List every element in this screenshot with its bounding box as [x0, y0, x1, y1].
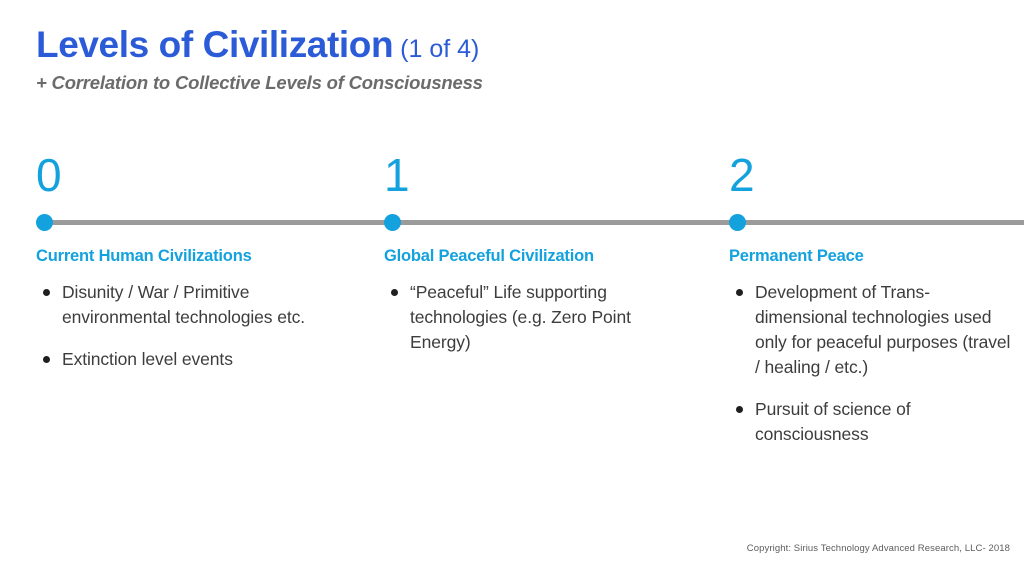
title-block: Levels of Civilization(1 of 4) + Correla…: [36, 26, 976, 94]
list-item-text: Pursuit of science of consciousness: [755, 399, 910, 444]
list-item-text: Disunity / War / Primitive environmental…: [62, 282, 305, 327]
list-item-text: Development of Trans-dimensional technol…: [755, 282, 1010, 377]
bullet-dot-icon: [43, 289, 50, 296]
timeline-stage-1: 1 Global Peaceful Civilization “Peaceful…: [384, 152, 704, 210]
stage-heading-2: Permanent Peace: [729, 247, 864, 266]
stage-number-0: 0: [36, 152, 356, 210]
list-item: “Peaceful” Life supporting technologies …: [384, 280, 669, 355]
page-title: Levels of Civilization(1 of 4): [36, 26, 976, 63]
timeline-stage-0: 0 Current Human Civilizations Disunity /…: [36, 152, 356, 210]
list-item: Development of Trans-dimensional technol…: [729, 280, 1019, 380]
stage-heading-1: Global Peaceful Civilization: [384, 247, 594, 266]
stage-heading-0: Current Human Civilizations: [36, 247, 252, 266]
stage-number-2: 2: [729, 152, 1024, 210]
stage-bullet-list-2: Development of Trans-dimensional technol…: [729, 280, 1019, 447]
slide-canvas: Levels of Civilization(1 of 4) + Correla…: [0, 0, 1024, 566]
bullet-dot-icon: [736, 289, 743, 296]
stage-bullet-list-0: Disunity / War / Primitive environmental…: [36, 280, 321, 372]
bullet-dot-icon: [43, 356, 50, 363]
timeline-stage-2: 2 Permanent Peace Development of Trans-d…: [729, 152, 1024, 210]
stage-number-1: 1: [384, 152, 704, 210]
list-item: Disunity / War / Primitive environmental…: [36, 280, 321, 330]
list-item: Pursuit of science of consciousness: [729, 397, 1019, 447]
timeline-axis: [45, 220, 1024, 225]
page-title-suffix: (1 of 4): [400, 35, 479, 63]
page-title-main: Levels of Civilization: [36, 24, 393, 65]
list-item-text: “Peaceful” Life supporting technologies …: [410, 282, 631, 352]
timeline-marker-dot-0: [36, 214, 53, 231]
bullet-dot-icon: [391, 289, 398, 296]
page-subtitle: + Correlation to Collective Levels of Co…: [36, 72, 976, 94]
bullet-dot-icon: [736, 406, 743, 413]
copyright-notice: Copyright: Sirius Technology Advanced Re…: [747, 543, 1010, 554]
list-item: Extinction level events: [36, 347, 321, 372]
timeline-marker-dot-2: [729, 214, 746, 231]
timeline-marker-dot-1: [384, 214, 401, 231]
list-item-text: Extinction level events: [62, 349, 233, 369]
stage-bullet-list-1: “Peaceful” Life supporting technologies …: [384, 280, 669, 355]
